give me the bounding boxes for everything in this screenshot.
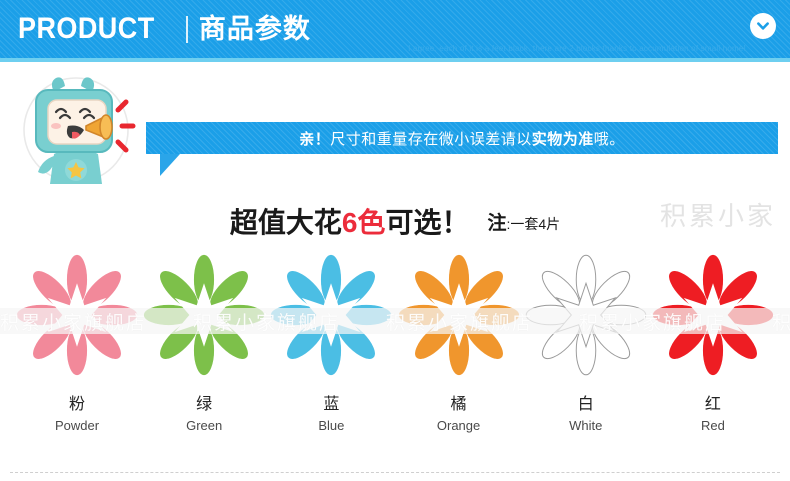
header-note-text: I agree, each of it is a feet black, the…	[408, 44, 746, 53]
color-label-en: White	[569, 418, 602, 433]
color-option[interactable]: 红 Red	[650, 252, 776, 452]
flower-icon	[14, 252, 140, 378]
chevron-down-icon[interactable]	[750, 13, 776, 39]
flower-icon	[141, 252, 267, 378]
section-title-row: 超值大花6色可选！ 注:一套4片 积累小家	[0, 190, 790, 252]
corner-watermark: 积累小家	[660, 196, 776, 233]
color-label-cn: 粉	[69, 390, 85, 414]
color-swatch-grid: 粉 Powder 绿 Green	[0, 252, 790, 452]
color-option[interactable]: 白 White	[523, 252, 649, 452]
brand-title-en: PRODUCT	[18, 14, 155, 44]
section-title-note: 注:一套4片	[487, 208, 560, 235]
flower-icon	[396, 252, 522, 378]
color-label-en: Blue	[318, 418, 344, 433]
brand-title-cn: 商品参数	[199, 16, 311, 43]
notice-banner-tail	[160, 154, 180, 176]
notice-text-1: 尺寸和重量存在微小误差请以	[330, 131, 532, 148]
color-option[interactable]: 蓝 Blue	[268, 252, 394, 452]
color-option[interactable]: 粉 Powder	[14, 252, 140, 452]
notice-emphasis: 实物为准	[532, 131, 594, 148]
section-title-accent: 6色	[342, 207, 386, 238]
color-option[interactable]: 绿 Green	[141, 252, 267, 452]
page-header: PRODUCT 商品参数 I agree, each of it is a fe…	[0, 0, 790, 58]
footer-divider	[10, 472, 780, 473]
color-label-en: Powder	[55, 418, 99, 433]
color-label-cn: 蓝	[323, 390, 339, 414]
color-label-en: Green	[186, 418, 222, 433]
section-title-part-1: 超值大花	[230, 207, 342, 238]
flower-icon	[268, 252, 394, 378]
color-label-cn: 橘	[451, 390, 467, 414]
brand-divider	[186, 16, 188, 43]
flower-icon	[650, 252, 776, 378]
color-label-cn: 白	[578, 390, 594, 414]
color-option[interactable]: 橘 Orange	[396, 252, 522, 452]
section-title-part-2: 可选！	[385, 207, 469, 238]
section-title: 超值大花6色可选！	[230, 201, 470, 241]
note-label: 注	[487, 213, 506, 234]
color-label-en: Red	[701, 418, 725, 433]
color-label-en: Orange	[437, 418, 480, 433]
color-label-cn: 绿	[196, 390, 212, 414]
notice-banner-text: 亲！尺寸和重量存在微小误差请以实物为准哦。	[299, 128, 625, 149]
note-value: :一套4片	[506, 216, 560, 232]
notice-row: 亲！尺寸和重量存在微小误差请以实物为准哦。	[0, 64, 790, 190]
notice-text-2: 哦。	[594, 131, 625, 148]
flower-icon	[523, 252, 649, 378]
notice-banner: 亲！尺寸和重量存在微小误差请以实物为准哦。	[146, 122, 778, 154]
color-label-cn: 红	[705, 390, 721, 414]
tv-head-megaphone-mascot-icon	[14, 70, 146, 190]
notice-lead: 亲！	[299, 131, 330, 148]
